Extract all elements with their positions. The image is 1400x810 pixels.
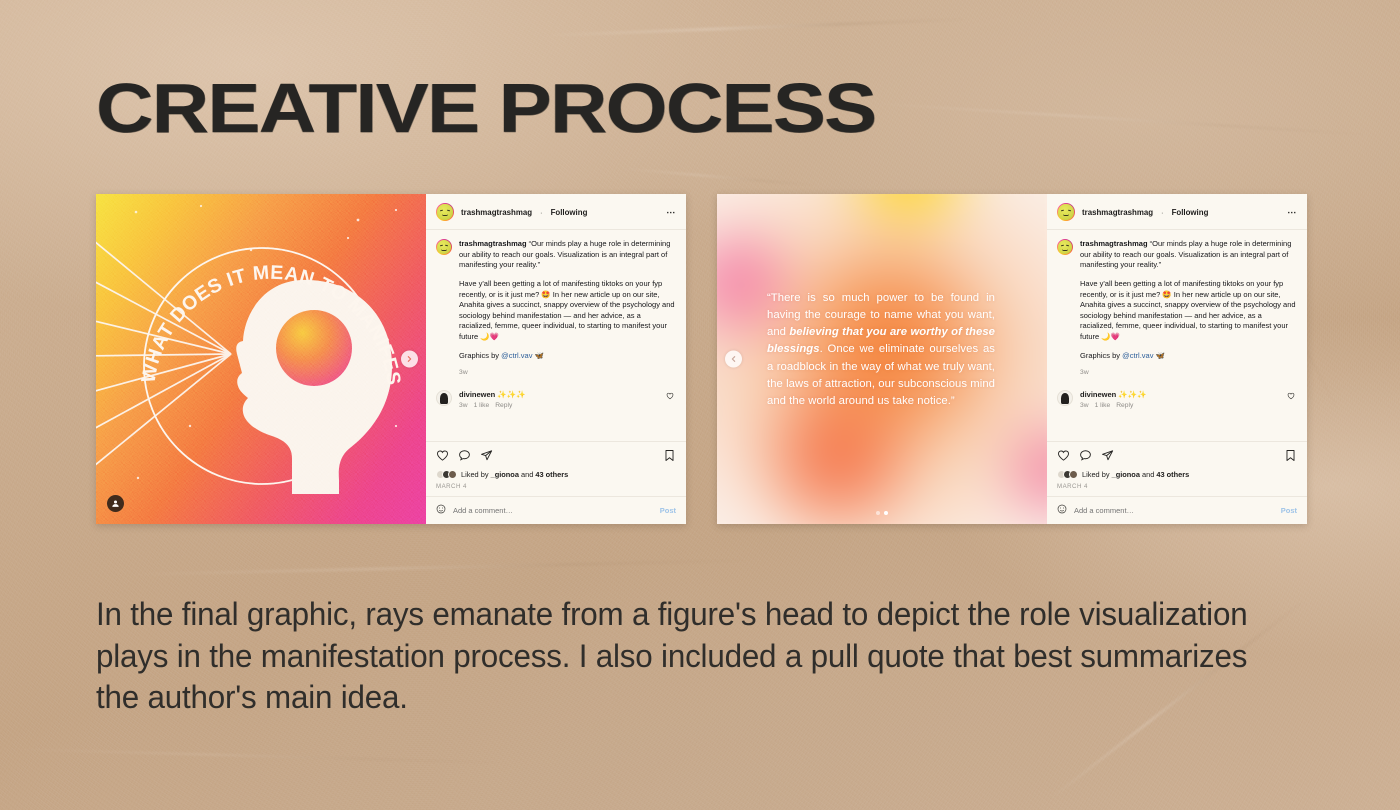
page-title: CREATIVE PROCESS: [96, 76, 875, 142]
share-icon[interactable]: [480, 449, 493, 464]
comment-meta: 3w 1 like Reply: [459, 402, 526, 409]
caption-author[interactable]: trashmagtrashmag: [459, 239, 527, 248]
comment-reply-button[interactable]: Reply: [1116, 402, 1133, 409]
post-body: trashmagtrashmag “Our minds play a huge …: [1047, 230, 1307, 441]
post-actions: Liked by _gionoa and 43 others MARCH 4: [426, 441, 686, 496]
graphics-credit-mention[interactable]: @ctrl.vav: [1122, 351, 1153, 360]
caption-avatar[interactable]: [1057, 239, 1073, 255]
post-comment-button[interactable]: Post: [1281, 506, 1297, 515]
post-date: MARCH 4: [436, 483, 676, 490]
post-actions: Liked by _gionoa and 43 others MARCH 4: [1047, 441, 1307, 496]
liked-by-suffix: and: [1140, 470, 1156, 479]
comment-reply-button[interactable]: Reply: [495, 402, 512, 409]
share-icon[interactable]: [1101, 449, 1114, 464]
post-header: trashmagtrashmag · Following ⋯: [1047, 194, 1307, 230]
comment-row: divinewen ✨✨✨ 3w 1 like Reply: [436, 390, 676, 409]
graphics-credit: Graphics by @ctrl.vav 🦋: [459, 351, 676, 362]
carousel-dots: [717, 511, 1047, 515]
header-separator: ·: [539, 208, 544, 217]
emoji-smiley-icon[interactable]: [1057, 504, 1067, 517]
caption-text: trashmagtrashmag “Our minds play a huge …: [1080, 239, 1297, 378]
comment-meta: 3w 1 like Reply: [1080, 402, 1147, 409]
commenter-username[interactable]: divinewen: [459, 390, 495, 399]
caption-row: trashmagtrashmag “Our minds play a huge …: [1057, 239, 1297, 378]
graphics-credit: Graphics by @ctrl.vav 🦋: [1080, 351, 1297, 362]
butterfly-emoji: 🦋: [535, 351, 544, 360]
comment-icon[interactable]: [458, 449, 471, 464]
caption-author[interactable]: trashmagtrashmag: [1080, 239, 1148, 248]
comment-text: ✨✨✨: [497, 390, 525, 399]
post-info-pane-1: trashmagtrashmag · Following ⋯ trashmagt…: [426, 194, 686, 524]
post-header: trashmagtrashmag · Following ⋯: [426, 194, 686, 230]
commenter-username[interactable]: divinewen: [1080, 390, 1116, 399]
post-username[interactable]: trashmagtrashmag: [461, 208, 532, 217]
heart-icon[interactable]: [1057, 449, 1070, 464]
graphics-credit-prefix: Graphics by: [1080, 351, 1122, 360]
comment-likes[interactable]: 1 like: [474, 402, 490, 409]
post-body: trashmagtrashmag “Our minds play a huge …: [426, 230, 686, 441]
profile-avatar[interactable]: [1057, 203, 1075, 221]
bookmark-icon[interactable]: [1284, 449, 1297, 464]
body-paragraph: In the final graphic, rays emanate from …: [96, 594, 1287, 719]
liked-by-count[interactable]: 43 others: [535, 470, 568, 479]
comment-text: ✨✨✨: [1118, 390, 1146, 399]
liked-by-row: Liked by _gionoa and 43 others: [436, 470, 676, 479]
carousel-dot[interactable]: [876, 511, 880, 515]
carousel-prev-button[interactable]: [725, 351, 742, 368]
action-icon-row: [1057, 449, 1297, 464]
caption-paragraph: Have y'all been getting a lot of manifes…: [459, 279, 676, 343]
commenter-avatar[interactable]: [1057, 390, 1073, 406]
heart-icon[interactable]: [436, 449, 449, 464]
carousel-next-button[interactable]: [401, 351, 418, 368]
pull-quote: “There is so much power to be found in h…: [767, 290, 995, 410]
comment-icon[interactable]: [1079, 449, 1092, 464]
instagram-post-card-1: WHAT DOES IT MEAN TO MANIFEST?: [96, 194, 686, 524]
add-comment-input[interactable]: [453, 506, 653, 515]
comment-timestamp: 3w: [459, 402, 468, 409]
heart-outline-icon[interactable]: [1287, 392, 1295, 402]
carousel-dot-active[interactable]: [884, 511, 888, 515]
comment-likes[interactable]: 1 like: [1095, 402, 1111, 409]
liked-by-avatars: [1057, 470, 1078, 479]
liked-by-user[interactable]: _gionoa: [491, 470, 519, 479]
header-separator: ·: [1160, 208, 1165, 217]
caption-text: trashmagtrashmag “Our minds play a huge …: [459, 239, 676, 378]
bookmark-icon[interactable]: [663, 449, 676, 464]
liked-by-user[interactable]: _gionoa: [1112, 470, 1140, 479]
liked-by-count[interactable]: 43 others: [1156, 470, 1189, 479]
commenter-avatar[interactable]: [436, 390, 452, 406]
caption-timestamp: 3w: [459, 368, 676, 378]
caption-avatar[interactable]: [436, 239, 452, 255]
post-comment-button[interactable]: Post: [660, 506, 676, 515]
instagram-post-card-2: “There is so much power to be found in h…: [717, 194, 1307, 524]
post-username[interactable]: trashmagtrashmag: [1082, 208, 1153, 217]
person-tag-icon[interactable]: [107, 495, 124, 512]
caption-row: trashmagtrashmag “Our minds play a huge …: [436, 239, 676, 378]
comment-timestamp: 3w: [1080, 402, 1089, 409]
add-comment-bar: Post: [1047, 496, 1307, 524]
liked-by-avatars: [436, 470, 457, 479]
post-media-graphic-2[interactable]: “There is so much power to be found in h…: [717, 194, 1047, 524]
post-date: MARCH 4: [1057, 483, 1297, 490]
more-options-icon[interactable]: ⋯: [1287, 210, 1297, 215]
liked-by-suffix: and: [519, 470, 535, 479]
caption-timestamp: 3w: [1080, 368, 1297, 378]
post-info-pane-2: trashmagtrashmag · Following ⋯ trashmagt…: [1047, 194, 1307, 524]
caption-paragraph: Have y'all been getting a lot of manifes…: [1080, 279, 1297, 343]
grain-overlay: [96, 194, 426, 524]
liked-by-prefix: Liked by: [1082, 470, 1112, 479]
add-comment-bar: Post: [426, 496, 686, 524]
emoji-smiley-icon[interactable]: [436, 504, 446, 517]
action-icon-row: [436, 449, 676, 464]
more-options-icon[interactable]: ⋯: [666, 210, 676, 215]
add-comment-input[interactable]: [1074, 506, 1274, 515]
comment-row: divinewen ✨✨✨ 3w 1 like Reply: [1057, 390, 1297, 409]
graphics-credit-prefix: Graphics by: [459, 351, 501, 360]
liked-by-prefix: Liked by: [461, 470, 491, 479]
liked-by-row: Liked by _gionoa and 43 others: [1057, 470, 1297, 479]
follow-state-label[interactable]: Following: [551, 208, 588, 217]
graphics-credit-mention[interactable]: @ctrl.vav: [501, 351, 532, 360]
profile-avatar[interactable]: [436, 203, 454, 221]
liked-by-text: Liked by _gionoa and 43 others: [1082, 470, 1189, 479]
post-media-graphic-1[interactable]: WHAT DOES IT MEAN TO MANIFEST?: [96, 194, 426, 524]
butterfly-emoji: 🦋: [1156, 351, 1165, 360]
heart-outline-icon[interactable]: [666, 392, 674, 402]
liked-by-text: Liked by _gionoa and 43 others: [461, 470, 568, 479]
follow-state-label[interactable]: Following: [1172, 208, 1209, 217]
